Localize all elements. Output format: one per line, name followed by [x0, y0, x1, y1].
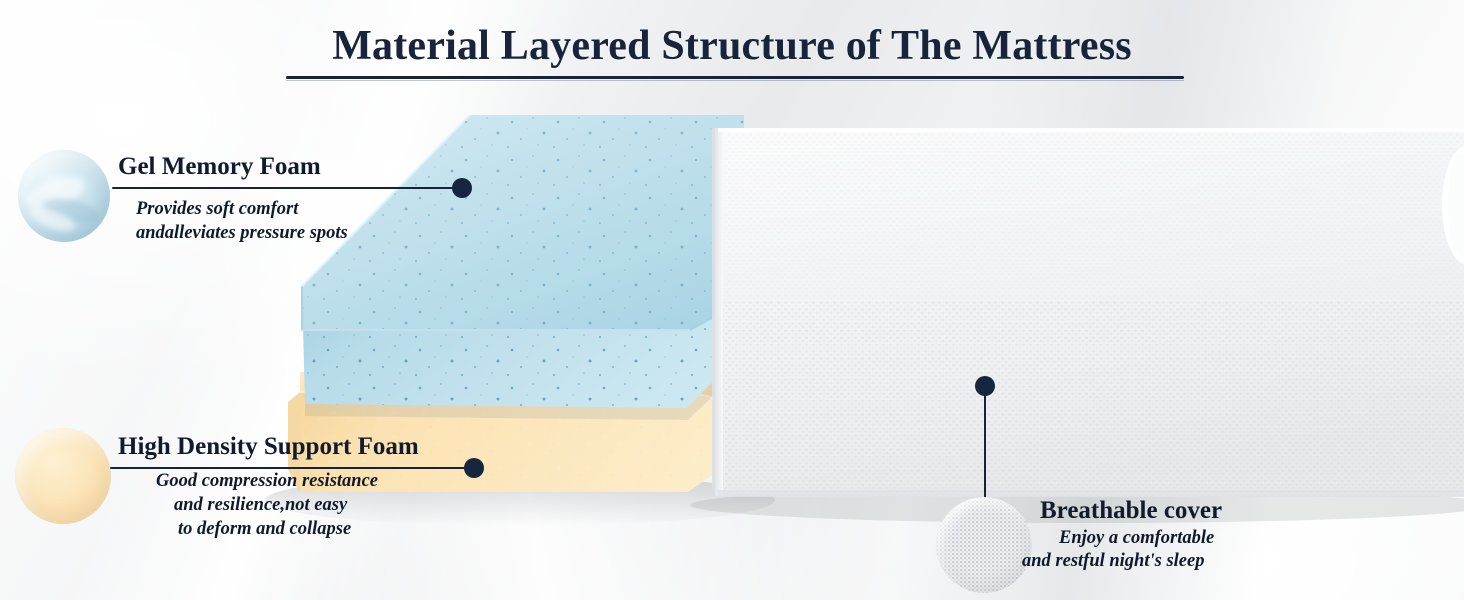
callout-title-breathable-cover: Breathable cover — [1040, 498, 1222, 524]
gel-foam-swatch-icon — [18, 150, 110, 242]
support-foam-swatch-icon — [15, 428, 111, 524]
callout-desc-cover-line-2: and restful night's sleep — [1022, 550, 1204, 574]
callout-leader-line-gel — [112, 187, 460, 189]
callout-leader-line-support — [110, 467, 474, 469]
page-title: Material Layered Structure of The Mattre… — [0, 22, 1464, 70]
callout-desc-support-line-2: and resilience,not easy — [174, 494, 347, 518]
infographic-canvas: Material Layered Structure of The Mattre… — [0, 0, 1464, 600]
title-underline — [286, 76, 1184, 79]
breathable-cover-swatch-icon — [936, 497, 1032, 593]
layer-marker-dot-icon-support — [464, 458, 484, 478]
callout-title-gel-memory-foam: Gel Memory Foam — [118, 154, 321, 180]
callout-title-support-foam: High Density Support Foam — [118, 434, 419, 460]
callout-leader-line-cover — [984, 393, 986, 505]
callout-desc-gel-line-2: andalleviates pressure spots — [136, 222, 348, 246]
callout-desc-cover-line-1: Enjoy a comfortable — [1059, 527, 1214, 551]
callout-desc-support-line-1: Good compression resistance — [156, 470, 378, 494]
callout-desc-support-line-3: to deform and collapse — [178, 518, 351, 542]
layer-marker-dot-icon-gel — [452, 178, 472, 198]
callout-desc-gel-line-1: Provides soft comfort — [136, 198, 298, 222]
